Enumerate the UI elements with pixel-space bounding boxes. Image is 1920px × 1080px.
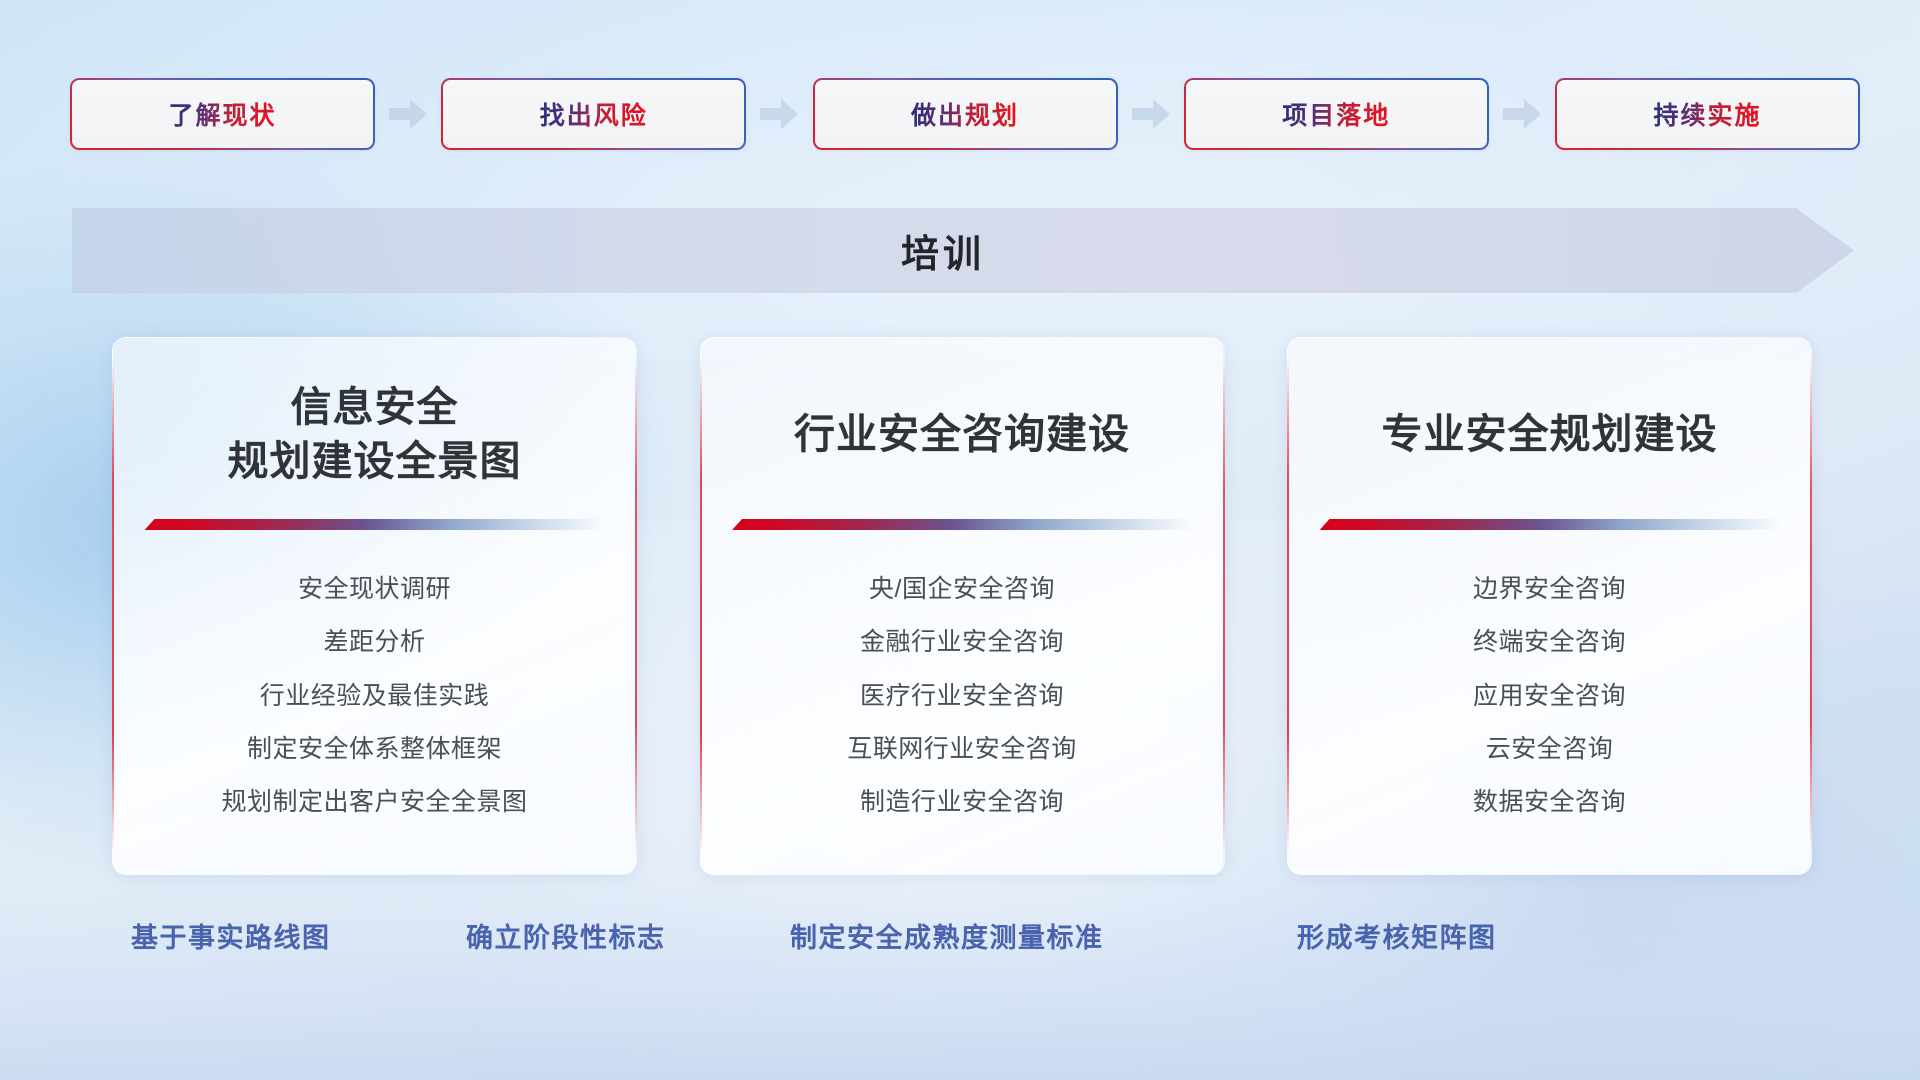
card-title-2: 行业安全咨询建设 [794, 375, 1130, 493]
card-divider [732, 519, 1192, 530]
step-label-2: 找出风险 [540, 96, 648, 132]
right-arrow-icon [1501, 97, 1543, 131]
outcome-label-3: 制定安全成熟度测量标准 [790, 916, 1104, 955]
step-label-4: 项目落地 [1282, 96, 1390, 132]
list-item: 制定安全体系整体框架 [247, 724, 502, 775]
outcome-label-2: 确立阶段性标志 [466, 916, 666, 955]
banner-title: 培训 [72, 208, 1854, 293]
card-title-line: 信息安全 [228, 380, 522, 434]
service-card-3[interactable]: 专业安全规划建设 边界安全咨询 终端安全咨询 应用安全咨询 云安全咨询 数据安全… [1287, 337, 1812, 875]
right-arrow-icon [758, 97, 800, 131]
list-item: 制造行业安全咨询 [860, 777, 1064, 828]
service-card-1[interactable]: 信息安全 规划建设全景图 安全现状调研 差距分析 行业经验及最佳实践 制定安全体… [112, 337, 637, 875]
step-box-2[interactable]: 找出风险 [441, 78, 746, 150]
step-box-1[interactable]: 了解现状 [70, 78, 375, 150]
list-item: 云安全咨询 [1486, 724, 1614, 775]
outcome-label-4: 形成考核矩阵图 [1297, 916, 1497, 955]
list-item: 安全现状调研 [298, 564, 451, 615]
list-item: 规划制定出客户安全全景图 [221, 777, 527, 828]
background-bottom-fade [0, 880, 1920, 1080]
list-item: 金融行业安全咨询 [860, 617, 1064, 668]
step-box-4[interactable]: 项目落地 [1184, 78, 1489, 150]
card-list-3: 边界安全咨询 终端安全咨询 应用安全咨询 云安全咨询 数据安全咨询 [1317, 564, 1782, 828]
step-box-3[interactable]: 做出规划 [813, 78, 1118, 150]
process-steps-row: 了解现状 找出风险 做出规划 项目落地 持续实施 [70, 78, 1860, 150]
list-item: 央/国企安全咨询 [869, 564, 1055, 615]
list-item: 应用安全咨询 [1473, 671, 1626, 722]
card-title-3: 专业安全规划建设 [1382, 375, 1718, 493]
outcome-label-1: 基于事实路线图 [131, 916, 331, 955]
card-title-1: 信息安全 规划建设全景图 [228, 375, 522, 493]
step-label-1: 了解现状 [168, 96, 276, 132]
outcome-labels-row: 基于事实路线图 确立阶段性标志 制定安全成熟度测量标准 形成考核矩阵图 [0, 916, 1920, 964]
card-divider [145, 519, 605, 530]
step-label-5: 持续实施 [1653, 96, 1761, 132]
card-title-line: 行业安全咨询建设 [794, 407, 1130, 461]
card-list-1: 安全现状调研 差距分析 行业经验及最佳实践 制定安全体系整体框架 规划制定出客户… [142, 564, 607, 828]
service-card-2[interactable]: 行业安全咨询建设 央/国企安全咨询 金融行业安全咨询 医疗行业安全咨询 互联网行… [700, 337, 1225, 875]
card-divider [1320, 519, 1780, 530]
list-item: 互联网行业安全咨询 [847, 724, 1077, 775]
card-title-line: 专业安全规划建设 [1382, 407, 1718, 461]
right-arrow-icon [1130, 97, 1172, 131]
list-item: 数据安全咨询 [1473, 777, 1626, 828]
training-banner: 培训 [72, 208, 1854, 293]
list-item: 医疗行业安全咨询 [860, 671, 1064, 722]
list-item: 边界安全咨询 [1473, 564, 1626, 615]
card-list-2: 央/国企安全咨询 金融行业安全咨询 医疗行业安全咨询 互联网行业安全咨询 制造行… [730, 564, 1195, 828]
step-box-5[interactable]: 持续实施 [1555, 78, 1860, 150]
service-cards-row: 信息安全 规划建设全景图 安全现状调研 差距分析 行业经验及最佳实践 制定安全体… [112, 337, 1812, 875]
list-item: 终端安全咨询 [1473, 617, 1626, 668]
step-label-3: 做出规划 [911, 96, 1019, 132]
card-title-line: 规划建设全景图 [228, 434, 522, 488]
list-item: 差距分析 [323, 617, 425, 668]
list-item: 行业经验及最佳实践 [260, 671, 490, 722]
right-arrow-icon [387, 97, 429, 131]
